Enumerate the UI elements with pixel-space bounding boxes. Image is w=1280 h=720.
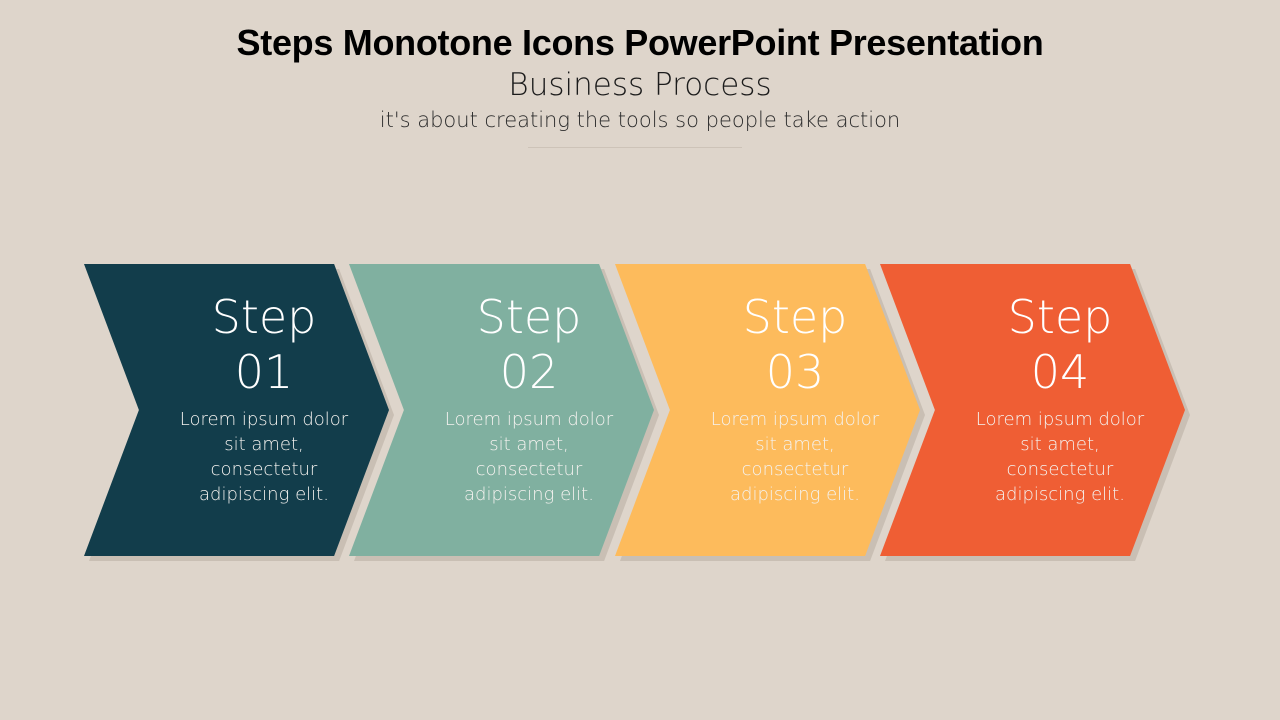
step-label-02: Step	[444, 291, 614, 343]
step-label-03: Step	[710, 291, 880, 343]
chevron-step-01[interactable]: Step 01 Lorem ipsum dolor sit amet, cons…	[84, 264, 389, 556]
step-body-02: Lorem ipsum dolor sit amet, consectetur …	[444, 401, 614, 507]
step-number-04: 04	[975, 343, 1145, 401]
process-chevron-band: Step 01 Lorem ipsum dolor sit amet, cons…	[0, 264, 1280, 564]
step-label-04: Step	[975, 291, 1145, 343]
chevron-content-step-01: Step 01 Lorem ipsum dolor sit amet, cons…	[179, 291, 349, 507]
chevron-content-step-02: Step 02 Lorem ipsum dolor sit amet, cons…	[444, 291, 614, 507]
slide-canvas: Steps Monotone Icons PowerPoint Presenta…	[0, 0, 1280, 720]
slide-header: Steps Monotone Icons PowerPoint Presenta…	[0, 0, 1280, 134]
chevron-step-03[interactable]: Step 03 Lorem ipsum dolor sit amet, cons…	[615, 264, 920, 556]
chevron-content-step-03: Step 03 Lorem ipsum dolor sit amet, cons…	[710, 291, 880, 507]
page-tagline: it's about creating the tools so people …	[0, 104, 1280, 134]
page-title: Steps Monotone Icons PowerPoint Presenta…	[0, 0, 1280, 64]
step-number-03: 03	[710, 343, 880, 401]
step-body-01: Lorem ipsum dolor sit amet, consectetur …	[179, 401, 349, 507]
chevron-step-04[interactable]: Step 04 Lorem ipsum dolor sit amet, cons…	[880, 264, 1185, 556]
step-body-04: Lorem ipsum dolor sit amet, consectetur …	[975, 401, 1145, 507]
chevron-content-step-04: Step 04 Lorem ipsum dolor sit amet, cons…	[975, 291, 1145, 507]
chevron-step-02[interactable]: Step 02 Lorem ipsum dolor sit amet, cons…	[349, 264, 654, 556]
step-body-03: Lorem ipsum dolor sit amet, consectetur …	[710, 401, 880, 507]
page-subtitle: Business Process	[0, 64, 1280, 104]
step-label-01: Step	[179, 291, 349, 343]
step-number-02: 02	[444, 343, 614, 401]
step-number-01: 01	[179, 343, 349, 401]
header-divider	[528, 147, 742, 148]
